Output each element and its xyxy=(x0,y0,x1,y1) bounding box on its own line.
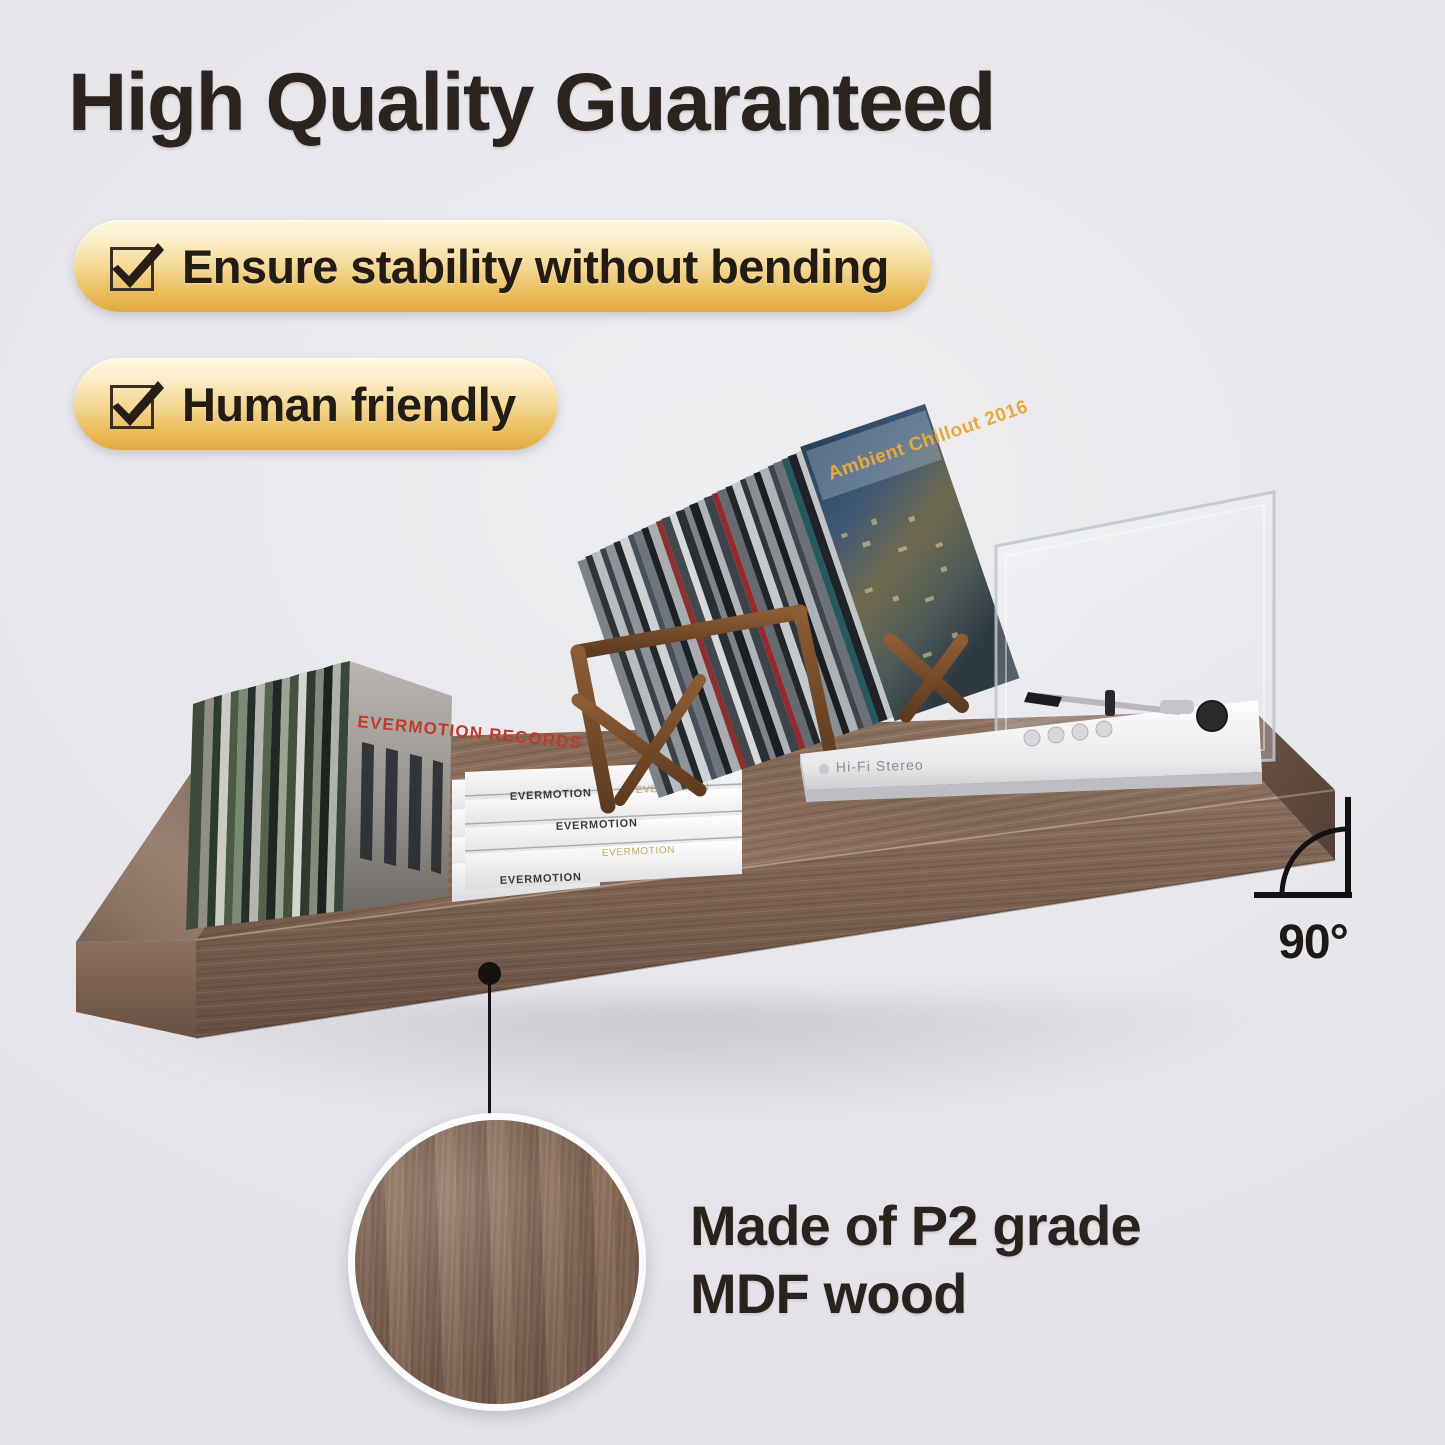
callout-leader-line xyxy=(488,982,491,1114)
feature-badge-human-friendly: Human friendly xyxy=(74,358,558,450)
wood-grain-zoom-circle xyxy=(348,1113,646,1411)
page-title: High Quality Guaranteed xyxy=(68,60,995,146)
feature-badge-label: Human friendly xyxy=(182,377,516,432)
checkbox-checked-icon xyxy=(108,379,160,429)
checkbox-checked-icon xyxy=(108,241,160,291)
feature-badge-label: Ensure stability without bending xyxy=(182,239,889,294)
material-callout: Made of P2 grade MDF wood xyxy=(690,1192,1141,1329)
material-line-2: MDF wood xyxy=(690,1260,1141,1328)
feature-badge-stability: Ensure stability without bending xyxy=(74,220,931,312)
angle-label: 90° xyxy=(1248,915,1378,970)
walnut-floating-shelf xyxy=(0,440,1445,1080)
right-angle-icon xyxy=(1252,795,1372,910)
material-line-1: Made of P2 grade xyxy=(690,1192,1141,1260)
product-feature-graphic: High Quality Guaranteed Ensure stability… xyxy=(0,0,1445,1445)
